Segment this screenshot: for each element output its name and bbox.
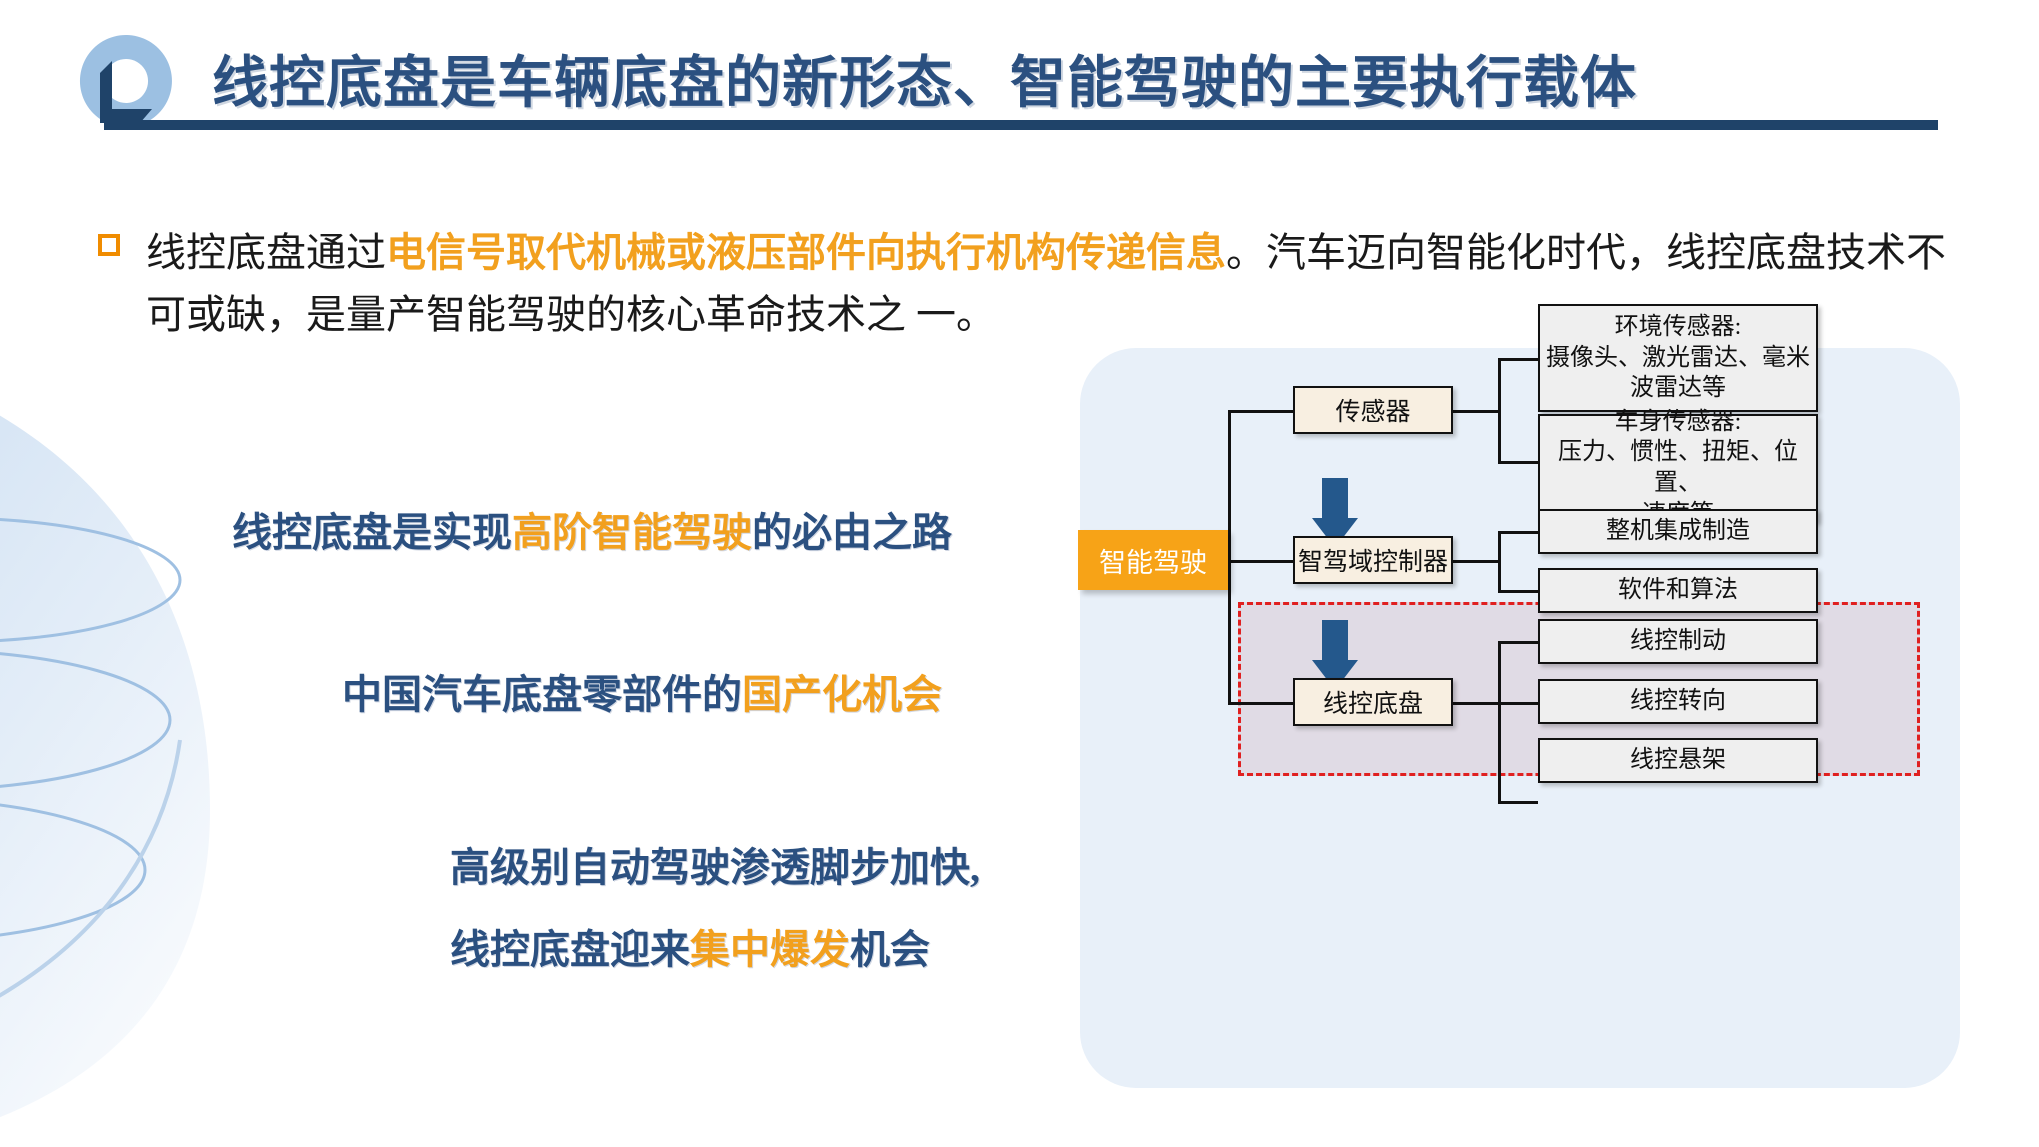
page-title: 线控底盘是车辆底盘的新形态、智能驾驶的主要执行载体	[212, 38, 1637, 119]
diagram-node-controller[interactable]: 智驾域控制器	[1293, 536, 1453, 584]
diagram-leaf-software-algorithm[interactable]: 软件和算法	[1538, 568, 1818, 613]
connector-spine-to-controller	[1228, 560, 1293, 563]
stmt2-part-1: 国产化机会	[742, 672, 942, 717]
connector-chassis-leaf-1	[1498, 641, 1538, 644]
connector-controller-out	[1452, 560, 1500, 563]
connector-chassis-out	[1452, 702, 1500, 705]
connector-controller-leaf-2	[1498, 590, 1538, 593]
diagram-leaf-integration-manufacturing[interactable]: 整机集成制造	[1538, 509, 1818, 554]
connector-spine-to-sensor	[1228, 410, 1293, 413]
stmt3-part-0: 线控底盘迎来	[450, 927, 690, 972]
stmt1-part-0: 线控底盘是实现	[232, 510, 512, 555]
diagram-leaf-environment-sensor[interactable]: 环境传感器: 摄像头、激光雷达、毫米 波雷达等	[1538, 304, 1818, 412]
bullet-seg-1: 电信号取代机械或液压部件向执行机构传递信息	[386, 230, 1226, 275]
diagram-leaf-body-sensor[interactable]: 车身传感器: 压力、惯性、扭矩、位置、 速度等	[1538, 414, 1818, 522]
diagram-leaf-wire-suspension-2[interactable]: 线控悬架	[1538, 738, 1818, 783]
diagram-leaf-wire-brake[interactable]: 线控制动	[1538, 619, 1818, 664]
connector-sensor-out	[1452, 410, 1500, 413]
square-bullet-icon	[98, 234, 120, 256]
connector-sensor-bus	[1498, 358, 1501, 464]
connector-spine-to-chassis	[1228, 702, 1293, 705]
slide-root: 线控底盘是车辆底盘的新形态、智能驾驶的主要执行载体 线控底盘通过电信号取代机械或…	[0, 0, 2039, 1147]
connector-chassis-leaf-3	[1498, 801, 1538, 804]
stmt3-part-1: 集中爆发	[690, 927, 850, 972]
ring-l-logo-icon	[78, 33, 174, 129]
stmt3-part-2: 机会	[850, 927, 930, 972]
connector-sensor-leaf-2	[1498, 461, 1538, 464]
diagram-leaf-wire-steering[interactable]: 线控转向	[1538, 679, 1818, 724]
diagram-node-sensor[interactable]: 传感器	[1293, 386, 1453, 434]
stmt2-part-0: 中国汽车底盘零部件的	[342, 672, 742, 717]
bullet-seg-0: 线控底盘通过	[146, 230, 386, 275]
statement-line-3: 高级别自动驾驶渗透脚步加快,线控底盘迎来集中爆发机会	[450, 838, 980, 980]
connector-chassis-bus	[1498, 641, 1501, 804]
architecture-diagram: 智能驾驶 传感器 智驾域控制器 线控底盘 环境传感器: 摄像头、激光雷达、毫米 …	[1080, 348, 1960, 1088]
statement-line-2: 中国汽车底盘零部件的国产化机会	[342, 665, 942, 725]
connector-spine-vertical	[1228, 410, 1231, 705]
diagram-root-node[interactable]: 智能驾驶	[1078, 530, 1228, 590]
stmt3-line2: 线控底盘迎来集中爆发机会	[450, 920, 980, 980]
stmt1-part-2: 的必由之路	[752, 510, 952, 555]
diagram-node-chassis[interactable]: 线控底盘	[1293, 678, 1453, 726]
stmt1-part-1: 高阶智能驾驶	[512, 510, 752, 555]
connector-chassis-leaf-2	[1498, 702, 1538, 705]
title-underline-rule	[104, 120, 1938, 130]
connector-controller-leaf-1	[1498, 531, 1538, 534]
statement-line-1: 线控底盘是实现高阶智能驾驶的必由之路	[232, 503, 952, 563]
connector-controller-bus	[1498, 531, 1501, 593]
stmt3-line1: 高级别自动驾驶渗透脚步加快,	[450, 845, 980, 890]
connector-sensor-leaf-1	[1498, 358, 1538, 361]
